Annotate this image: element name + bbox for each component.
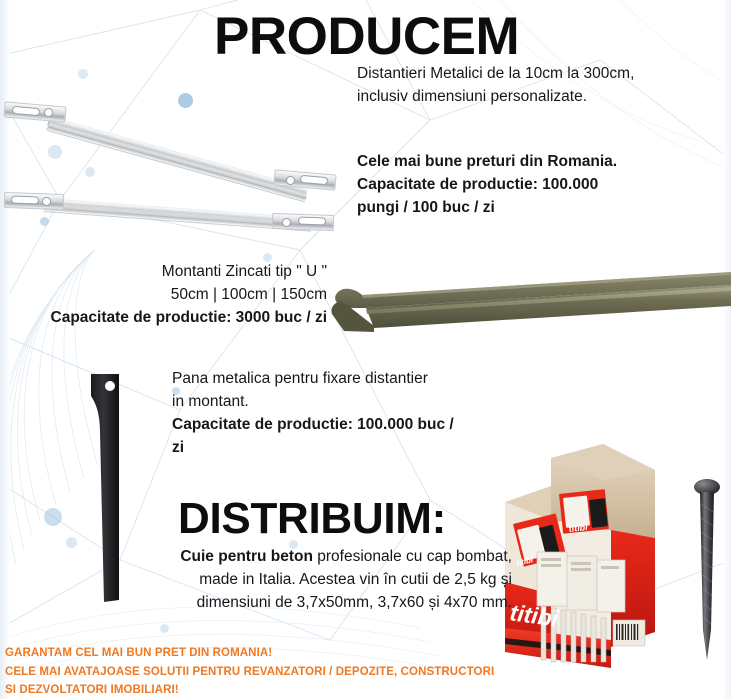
pana-line-2: in montant.	[172, 391, 502, 414]
pana-line-1: Pana metalica pentru fixare distantier	[172, 368, 502, 391]
u-profile-image	[322, 268, 731, 340]
pana-line-4: zi	[172, 437, 502, 460]
svg-text:titibi: titibi	[568, 522, 588, 534]
cuie-bold-lead: Cuie pentru beton	[180, 548, 313, 565]
distantieri-line-2: inclusiv dimensiuni personalizate.	[357, 86, 722, 109]
text-block-distantieri: Distantieri Metalici de la 10cm la 300cm…	[357, 63, 722, 109]
page-title-distribuim: DISTRIBUIM:	[178, 494, 446, 544]
accent-dot	[78, 69, 88, 79]
montanti-line-2: 50cm | 100cm | 150cm	[0, 284, 327, 307]
footer-line-3: SI DEZVOLTATORI IMOBILIARI!	[5, 681, 525, 699]
footer-line-2: CELE MAI AVATAJOASE SOLUTII PENTRU REVAN…	[5, 663, 525, 682]
accent-dot	[160, 624, 169, 633]
metal-wedge-image	[85, 372, 147, 604]
footer-line-1: GARANTAM CEL MAI BUN PRET DIN ROMANIA!	[5, 644, 525, 663]
preturi-line-2: Capacitate de productie: 100.000	[357, 174, 722, 197]
text-block-preturi: Cele mai bune preturi din Romania. Capac…	[357, 151, 722, 220]
promo-poster: titibi titibi	[0, 0, 731, 699]
page-title-producem: PRODUCEM	[214, 6, 519, 67]
pana-line-3: Capacitate de productie: 100.000 buc /	[172, 414, 502, 437]
concrete-nail-image	[690, 478, 724, 668]
spacer-bar-top-image	[0, 86, 350, 186]
preturi-line-3: pungi / 100 buc / zi	[357, 197, 722, 220]
text-block-montanti: Montanti Zincati tip " U " 50cm | 100cm …	[0, 261, 327, 330]
nail-box-image: titibi titibi	[495, 442, 700, 687]
spacer-bar-bottom-image	[0, 186, 350, 236]
right-edge-gradient	[723, 0, 731, 699]
text-block-cuie: Cuie pentru beton profesionale cu cap bo…	[150, 546, 512, 615]
preturi-line-1: Cele mai bune preturi din Romania.	[357, 151, 722, 174]
accent-dot	[44, 508, 62, 526]
distantieri-line-1: Distantieri Metalici de la 10cm la 300cm…	[357, 63, 722, 86]
montanti-line-1: Montanti Zincati tip " U "	[0, 261, 327, 284]
montanti-line-3: Capacitate de productie: 3000 buc / zi	[0, 307, 327, 330]
text-block-pana: Pana metalica pentru fixare distantier i…	[172, 368, 502, 460]
footer-banner: GARANTAM CEL MAI BUN PRET DIN ROMANIA! C…	[5, 644, 525, 699]
accent-dot	[66, 537, 77, 548]
